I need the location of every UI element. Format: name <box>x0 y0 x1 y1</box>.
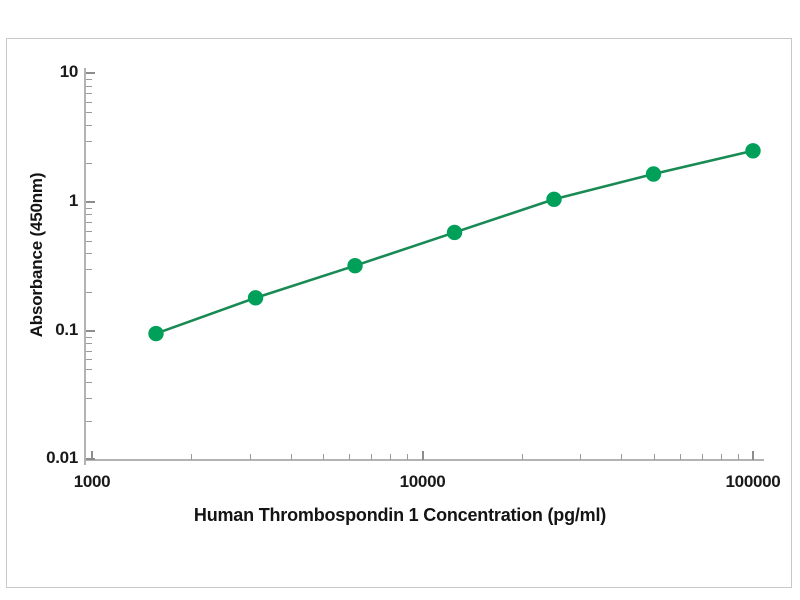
y-tick-minor <box>86 398 92 399</box>
x-tick-label: 100000 <box>726 472 781 492</box>
x-tick-minor <box>349 454 350 460</box>
x-axis-spine <box>84 459 764 461</box>
y-tick-label: 10 <box>60 62 78 82</box>
y-tick-label: 0.01 <box>46 448 78 468</box>
y-tick-minor <box>86 163 92 164</box>
y-tick-minor <box>86 93 92 94</box>
x-tick-minor <box>680 454 681 460</box>
x-tick-minor <box>291 454 292 460</box>
y-tick-minor <box>86 208 92 209</box>
y-axis-spine <box>84 68 86 465</box>
y-tick-minor <box>86 292 92 293</box>
y-tick-major <box>86 72 95 74</box>
y-tick-minor <box>86 79 92 80</box>
y-tick-minor <box>86 231 92 232</box>
x-tick-minor <box>738 454 739 460</box>
x-tick-major <box>752 451 754 460</box>
y-tick-minor <box>86 369 92 370</box>
x-tick-minor <box>191 454 192 460</box>
y-tick-minor <box>86 382 92 383</box>
x-tick-minor <box>522 454 523 460</box>
x-tick-minor <box>390 454 391 460</box>
y-tick-minor <box>86 343 92 344</box>
x-tick-label: 1000 <box>74 472 111 492</box>
y-tick-minor <box>86 359 92 360</box>
x-tick-minor <box>250 454 251 460</box>
x-tick-major <box>422 451 424 460</box>
x-tick-minor <box>721 454 722 460</box>
y-tick-minor <box>86 241 92 242</box>
x-tick-minor <box>407 454 408 460</box>
y-tick-minor <box>86 222 92 223</box>
y-axis-title: Absorbance (450nm) <box>27 55 47 455</box>
x-tick-minor <box>371 454 372 460</box>
x-tick-minor <box>580 454 581 460</box>
figure-root: 0.010.1110 100010000100000 Human Thrombo… <box>0 0 800 600</box>
y-tick-minor <box>86 214 92 215</box>
y-tick-major <box>86 330 95 332</box>
x-tick-minor <box>621 454 622 460</box>
x-tick-minor <box>323 454 324 460</box>
y-tick-minor <box>86 269 92 270</box>
x-tick-major <box>91 451 93 460</box>
y-tick-minor <box>86 112 92 113</box>
y-tick-minor <box>86 86 92 87</box>
y-tick-label: 0.1 <box>55 320 78 340</box>
x-axis-title: Human Thrombospondin 1 Concentration (pg… <box>0 505 800 526</box>
y-tick-major <box>86 201 95 203</box>
y-tick-minor <box>86 337 92 338</box>
y-tick-minor <box>86 141 92 142</box>
y-tick-label: 1 <box>69 191 78 211</box>
y-tick-minor <box>86 351 92 352</box>
x-tick-label: 10000 <box>400 472 446 492</box>
y-tick-minor <box>86 421 92 422</box>
x-tick-minor <box>702 454 703 460</box>
y-tick-minor <box>86 253 92 254</box>
x-tick-minor <box>654 454 655 460</box>
y-tick-minor <box>86 102 92 103</box>
y-tick-minor <box>86 125 92 126</box>
